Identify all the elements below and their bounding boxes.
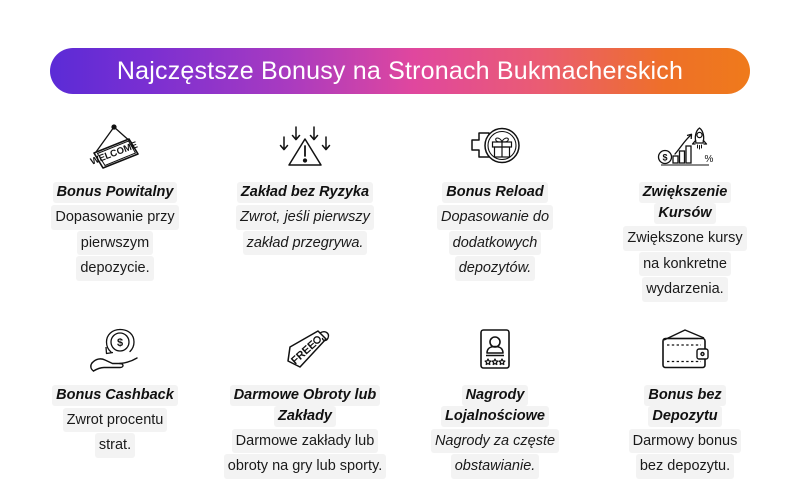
svg-text:$: $ bbox=[117, 337, 123, 349]
svg-text:%: % bbox=[705, 154, 714, 165]
infographic-page: Najczęstsze Bonusy na Stronach Bukmacher… bbox=[0, 0, 800, 500]
bonus-card: Bonus bez Depozytu Darmowy bonus bez dep… bbox=[590, 321, 780, 480]
card-description: Darmowy bonus bez depozytu. bbox=[629, 429, 742, 480]
card-title: Bonus bez Depozytu bbox=[644, 385, 725, 427]
bonus-card: WELCOME Bonus Powitalny Dopasowanie przy… bbox=[20, 118, 210, 303]
bonus-card: $ % Zwiększenie Kursów bbox=[590, 118, 780, 303]
wallet-icon bbox=[654, 321, 716, 379]
card-title: Zakład bez Ryzyka bbox=[237, 182, 373, 203]
card-description: Zwiększone kursy na konkretne wydarzenia… bbox=[623, 226, 746, 302]
card-description: Zwrot procentu strat. bbox=[63, 408, 168, 459]
card-description: Darmowe zakłady lub obroty na gry lub sp… bbox=[224, 429, 386, 480]
card-description: Dopasowanie przy pierwszym depozycie. bbox=[51, 205, 178, 281]
card-title: Bonus Cashback bbox=[52, 385, 178, 406]
card-title: Bonus Reload bbox=[442, 182, 547, 203]
loyalty-card-stars-icon bbox=[466, 321, 524, 379]
bonus-card-grid: WELCOME Bonus Powitalny Dopasowanie przy… bbox=[20, 118, 780, 480]
banner: Najczęstsze Bonusy na Stronach Bukmacher… bbox=[50, 48, 750, 94]
card-title: Zwiększenie Kursów bbox=[639, 182, 732, 224]
welcome-sign-icon: WELCOME bbox=[84, 118, 146, 176]
bonus-card: $ Bonus Cashback Zwrot procentu strat. bbox=[20, 321, 210, 480]
bonus-card: Nagrody Lojalnościowe Nagrody za częste … bbox=[400, 321, 590, 480]
card-description: Dopasowanie do dodatkowych depozytów. bbox=[437, 205, 553, 281]
page-title: Najczęstsze Bonusy na Stronach Bukmacher… bbox=[117, 59, 683, 84]
rocket-growth-chart-icon: $ % bbox=[653, 118, 717, 176]
svg-text:$: $ bbox=[662, 153, 667, 163]
card-title: Darmowe Obroty lub Zakłady bbox=[230, 385, 381, 427]
plus-gift-circle-icon bbox=[464, 118, 526, 176]
bonus-card: Bonus Reload Dopasowanie do dodatkowych … bbox=[400, 118, 590, 303]
free-tag-icon: FREE bbox=[274, 321, 336, 379]
bonus-card: FREE Darmowe Obroty lub Zakłady Darmowe … bbox=[210, 321, 400, 480]
card-description: Nagrody za częste obstawianie. bbox=[431, 429, 559, 480]
bonus-card: Zakład bez Ryzyka Zwrot, jeśli pierwszy … bbox=[210, 118, 400, 303]
card-description: Zwrot, jeśli pierwszy zakład przegrywa. bbox=[236, 205, 374, 256]
card-title: Bonus Powitalny bbox=[53, 182, 178, 203]
warning-triangle-arrows-icon bbox=[274, 118, 336, 176]
card-title: Nagrody Lojalnościowe bbox=[441, 385, 549, 427]
hand-cashback-coin-icon: $ bbox=[84, 321, 146, 379]
